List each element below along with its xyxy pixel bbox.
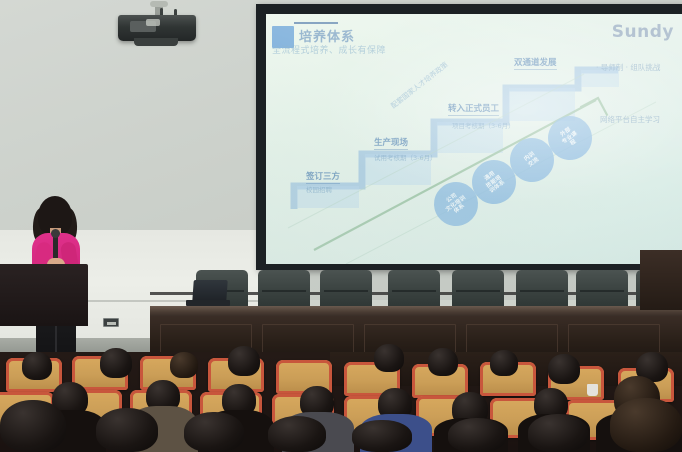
audience-head-foreground [352, 420, 412, 452]
stage-chair [516, 270, 568, 310]
microphone-icon [53, 234, 58, 260]
step-sub-2: 试用考核期（3-6月） [374, 152, 437, 162]
training-bubble-4-label: 外部专业课程 [557, 125, 583, 152]
projector-lens-highlight [146, 19, 160, 26]
step-label-1: 签订三方 [306, 170, 340, 184]
paper-cup [587, 384, 598, 396]
table-panel [568, 324, 660, 354]
step-sub-1: 校园招聘 [306, 184, 332, 194]
audience-head-foreground [268, 416, 326, 452]
slide-content: 培养体系 全流程式培养、成长有保障 Sundy [266, 14, 682, 264]
step-sub-3: 项目考核期（3-6月） [452, 120, 515, 130]
training-bubble-3-label: 内训交流 [523, 151, 540, 169]
audience-head [490, 350, 518, 376]
stage-chair [320, 270, 372, 310]
audience-head [170, 352, 198, 378]
stage-chair [452, 270, 504, 310]
step-label-3: 转入正式员工 [448, 102, 499, 116]
audience-head-foreground [610, 398, 682, 452]
lecture-hall-scene: 培养体系 全流程式培养、成长有保障 Sundy [0, 0, 682, 452]
audience-head [100, 348, 132, 378]
stage-chair [576, 270, 628, 310]
audience-head-foreground [184, 412, 244, 452]
audience-head [548, 354, 580, 384]
table-panel [262, 324, 354, 354]
step-label-4: 双通道发展 [514, 56, 557, 70]
right-note-1: · 导师制 · 组队挑战 [596, 62, 660, 73]
wall-outlet-icon [103, 318, 119, 327]
staircase-diagram [266, 14, 682, 264]
audience-head [428, 348, 458, 376]
stage-chair [258, 270, 310, 310]
audience-head [22, 352, 52, 380]
audience-head-foreground [0, 400, 66, 452]
audience-head [228, 346, 260, 376]
training-bubble-2-label: 通用技能培训体系 [481, 169, 507, 196]
table-panel [466, 324, 558, 354]
laptop-screen [192, 280, 228, 302]
side-podium [0, 264, 88, 326]
projection-screen[interactable]: 培养体系 全流程式培养、成长有保障 Sundy [266, 14, 682, 264]
stage-chair [388, 270, 440, 310]
audience-head [374, 344, 404, 372]
step-label-2: 生产现场 [374, 136, 408, 150]
right-note-2: 网络平台自主学习 [600, 114, 660, 125]
training-bubble-1-label: 公司文化培训体系 [441, 189, 472, 219]
audience-head-foreground [528, 414, 588, 452]
right-podium [640, 250, 682, 310]
audience-head-foreground [96, 408, 158, 452]
audience-head-foreground [448, 418, 506, 452]
